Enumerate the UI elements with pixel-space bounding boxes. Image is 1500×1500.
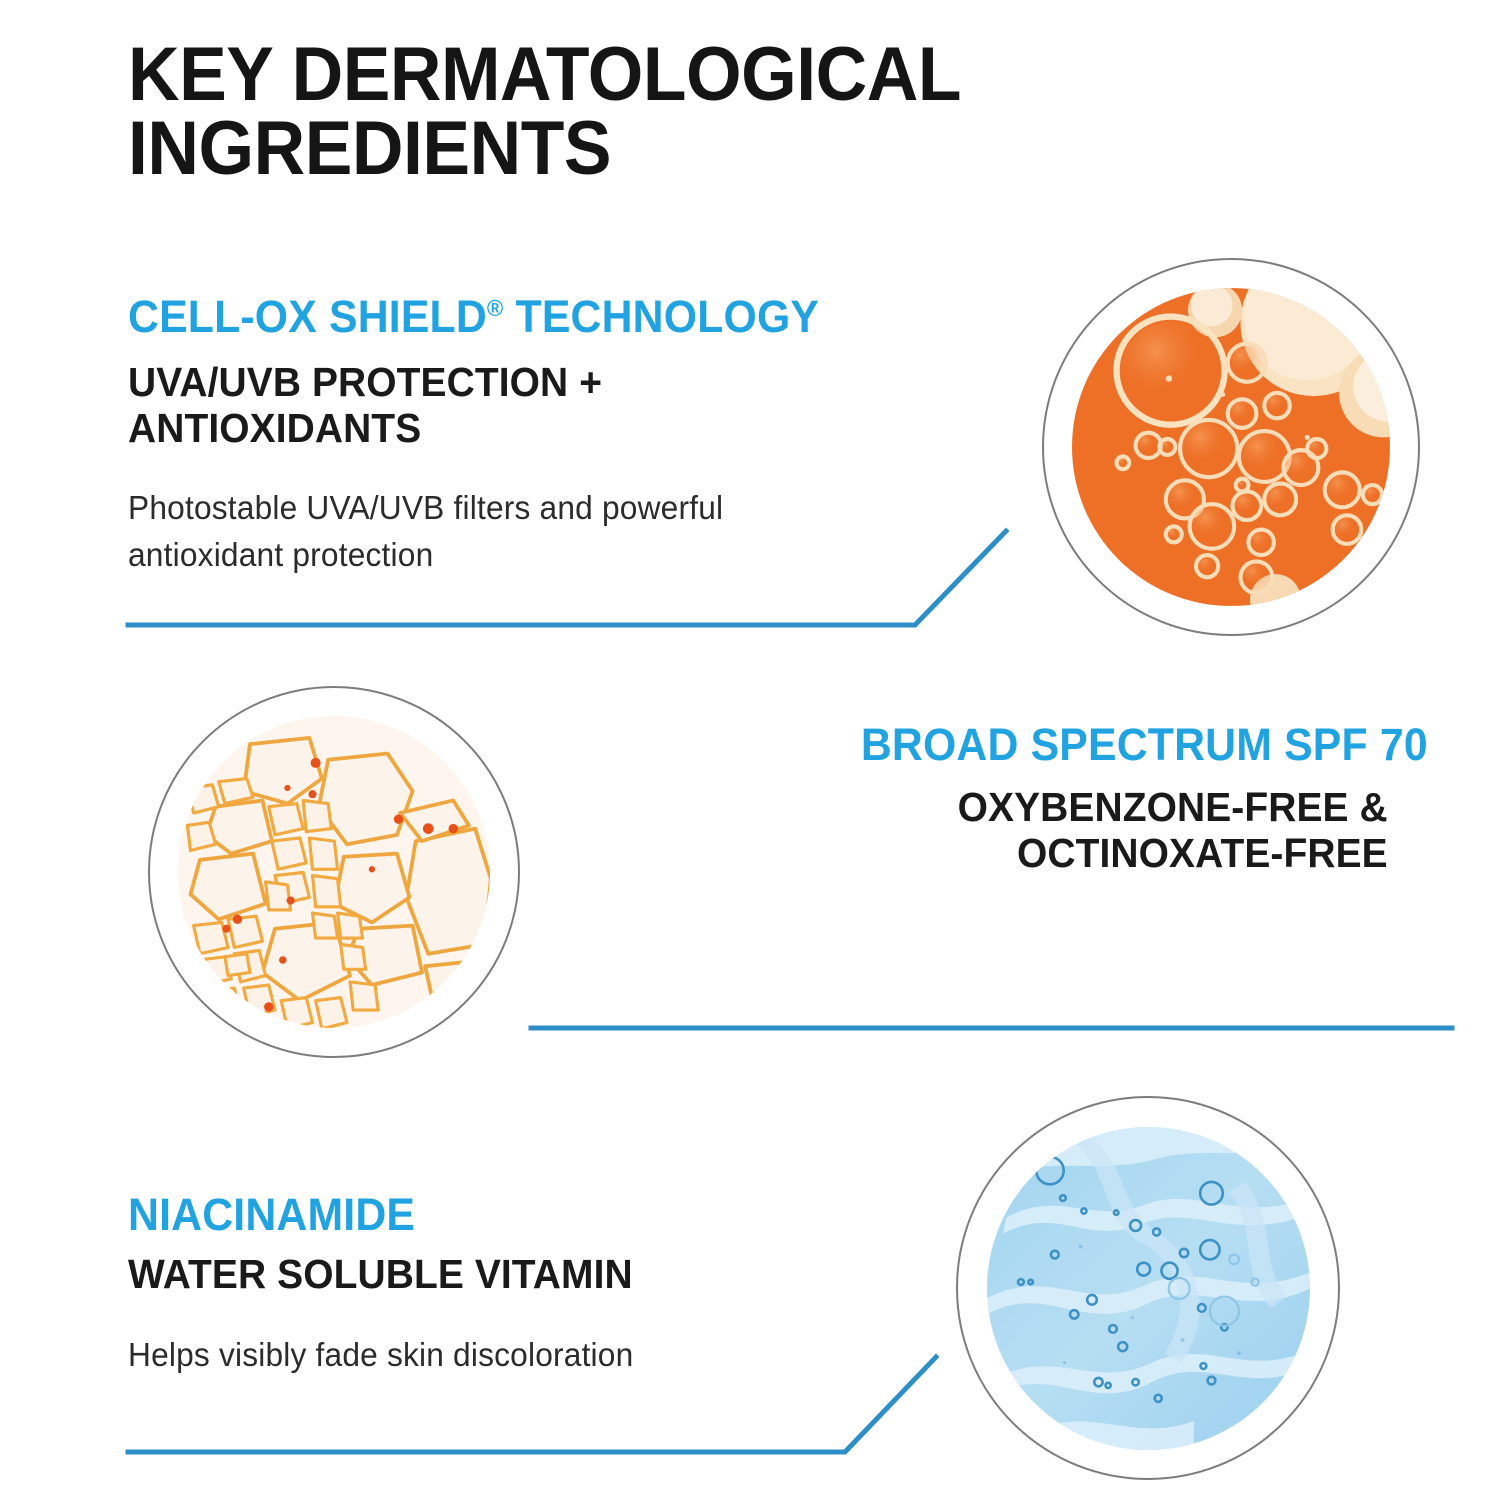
section-2-heading-text: BROAD SPECTRUM SPF 70 xyxy=(861,719,1428,770)
section-1-description: Photostable UVA/UVB filters and powerful… xyxy=(128,485,723,579)
registered-trademark-icon: ® xyxy=(487,295,504,321)
section-2-heading: BROAD SPECTRUM SPF 70 xyxy=(861,722,1428,767)
blue-gel-icon xyxy=(987,1127,1310,1450)
section-1-heading: CELL-OX SHIELD® TECHNOLOGY xyxy=(128,294,819,339)
section-1-subheading: UVA/UVB PROTECTION + ANTIOXIDANTS xyxy=(128,360,602,452)
page-title: KEY DERMATOLOGICAL INGREDIENTS xyxy=(128,38,1181,187)
section-3-description: Helps visibly fade skin discoloration xyxy=(128,1332,633,1379)
section-2-subheading: OXYBENZONE-FREE & OCTINOXATE-FREE xyxy=(958,785,1388,877)
section-3-subheading: WATER SOLUBLE VITAMIN xyxy=(128,1252,633,1298)
section-1-heading-text: CELL-OX SHIELD xyxy=(128,291,487,342)
section-3-heading-text: NIACINAMIDE xyxy=(128,1189,415,1240)
section-1-heading-suffix: TECHNOLOGY xyxy=(503,291,819,342)
cell-tissue-microscopy-icon xyxy=(178,716,491,1029)
section-3-heading: NIACINAMIDE xyxy=(128,1192,415,1237)
section-1-swatch-orange-oil xyxy=(1042,258,1420,636)
section-2-swatch-cell-tissue xyxy=(148,686,520,1058)
infographic-page: KEY DERMATOLOGICAL INGREDIENTS CELL-OX S… xyxy=(0,0,1500,1500)
section-3-swatch-blue-gel xyxy=(956,1096,1340,1480)
orange-oil-droplets-icon xyxy=(1072,288,1390,606)
